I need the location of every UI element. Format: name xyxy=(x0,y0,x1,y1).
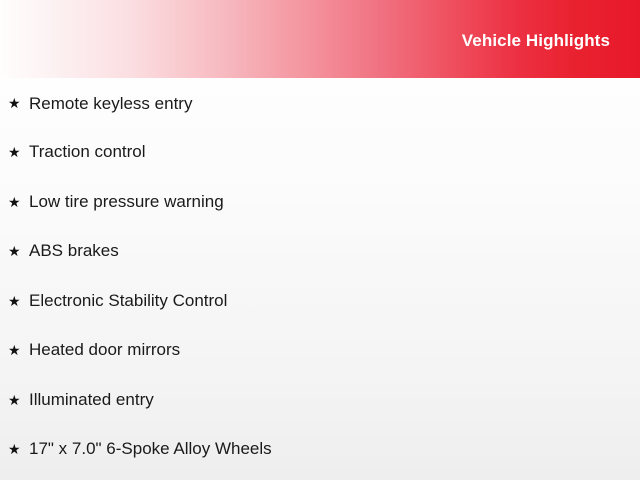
list-item: ★ ABS brakes xyxy=(0,227,640,277)
star-bullet-icon: ★ xyxy=(8,294,21,308)
list-item-label: Heated door mirrors xyxy=(29,340,180,360)
list-item: ★ Illuminated entry xyxy=(0,375,640,425)
list-item: ★ Traction control xyxy=(0,128,640,178)
vehicle-highlights-list: ★ Remote keyless entry ★ Traction contro… xyxy=(0,78,640,474)
star-bullet-icon: ★ xyxy=(8,244,21,258)
page-title: Vehicle Highlights xyxy=(462,30,610,52)
list-item-label: Electronic Stability Control xyxy=(29,291,227,311)
vehicle-highlights-page: Vehicle Highlights ★ Remote keyless entr… xyxy=(0,0,640,480)
star-bullet-icon: ★ xyxy=(8,343,21,357)
list-item: ★ Electronic Stability Control xyxy=(0,276,640,326)
list-item-label: Remote keyless entry xyxy=(29,94,192,114)
star-bullet-icon: ★ xyxy=(8,195,21,209)
list-item: ★ Low tire pressure warning xyxy=(0,177,640,227)
list-item-label: Traction control xyxy=(29,142,146,162)
list-item-label: 17" x 7.0" 6-Spoke Alloy Wheels xyxy=(29,439,272,459)
star-bullet-icon: ★ xyxy=(8,145,21,159)
star-bullet-icon: ★ xyxy=(8,393,21,407)
list-item: ★ Heated door mirrors xyxy=(0,326,640,376)
header-banner: Vehicle Highlights xyxy=(0,0,640,78)
list-item: ★ 17" x 7.0" 6-Spoke Alloy Wheels xyxy=(0,425,640,475)
star-bullet-icon: ★ xyxy=(8,442,21,456)
list-item-label: Low tire pressure warning xyxy=(29,192,224,212)
list-item-label: ABS brakes xyxy=(29,241,119,261)
list-item-label: Illuminated entry xyxy=(29,390,154,410)
list-item: ★ Remote keyless entry xyxy=(0,78,640,128)
star-bullet-icon: ★ xyxy=(8,96,21,110)
